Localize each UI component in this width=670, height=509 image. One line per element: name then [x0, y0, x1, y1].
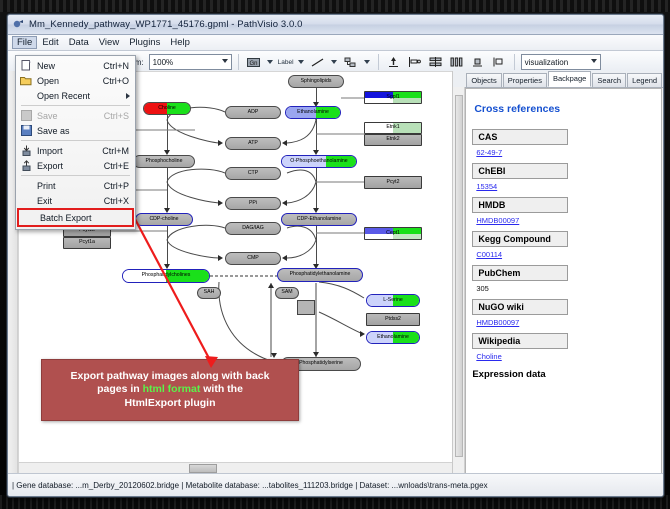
- gene-ptdss2[interactable]: Ptdss2: [366, 313, 420, 326]
- same-height-icon[interactable]: [469, 53, 487, 71]
- backpage-content: Cross references CAS 62-49-7 ChEBI 15354…: [465, 88, 662, 474]
- desktop-texture-top: [0, 0, 670, 12]
- node-ethanolamine-2[interactable]: Ethanolamine: [366, 331, 420, 344]
- menu-item-shortcut: Ctrl+O: [103, 76, 129, 86]
- backpage-entry-wikipedia: Wikipedia Choline: [472, 331, 661, 361]
- arrowhead: [218, 140, 223, 146]
- node-label: Phosphatidylethanolamine: [290, 272, 351, 277]
- callout-line1: Export pathway images along with back: [71, 370, 270, 382]
- menu-item-label: Save: [37, 111, 104, 121]
- new-file-icon: [19, 59, 33, 72]
- side-panel-scrollbar-thumb[interactable]: [455, 95, 463, 457]
- gene-label: Ptdss2: [385, 317, 401, 322]
- menu-item-save: Save Ctrl+S: [16, 108, 135, 123]
- menu-item-batch-export[interactable]: Batch Export: [17, 208, 134, 227]
- menu-item-open[interactable]: Open Ctrl+O: [16, 73, 135, 88]
- import-icon: [19, 144, 33, 157]
- menu-item-save-as[interactable]: Save as: [16, 123, 135, 138]
- label-dropdown-icon[interactable]: [298, 60, 304, 64]
- menu-item-export[interactable]: Export Ctrl+E: [16, 158, 135, 173]
- statusbar: | Gene database: ...m_Derby_20120602.bri…: [8, 473, 664, 496]
- save-icon: [19, 109, 33, 122]
- expression-data-heading: Expression data: [472, 369, 661, 380]
- file-menu-dropdown: New Ctrl+N Open Ctrl+O Open Recent Save …: [15, 55, 136, 230]
- entry-value[interactable]: 15354: [476, 182, 661, 191]
- arrowhead: [282, 140, 287, 146]
- window-titlebar: Mm_Kennedy_pathway_WP1771_45176.gpml - P…: [8, 15, 663, 35]
- menu-item-label: Print: [37, 181, 104, 191]
- pathvisio-icon: [12, 18, 25, 31]
- node-label: L-Serine: [383, 298, 403, 303]
- menu-item-label: Import: [37, 146, 102, 156]
- tab-search[interactable]: Search: [592, 73, 626, 87]
- menu-item-shortcut: Ctrl+S: [104, 111, 129, 121]
- menu-item-label: Exit: [37, 196, 104, 206]
- align-top-icon[interactable]: [385, 53, 403, 71]
- entry-label: CAS: [472, 129, 568, 145]
- svg-text:Gn: Gn: [250, 61, 258, 67]
- label-button[interactable]: Label: [278, 59, 294, 66]
- menu-item-shortcut: Ctrl+E: [104, 161, 129, 171]
- window-title: Mm_Kennedy_pathway_WP1771_45176.gpml - P…: [29, 19, 303, 30]
- entry-label: Kegg Compound: [472, 231, 568, 247]
- node-o-phosphoethanolamine[interactable]: O-Phosphoethanolamine: [281, 155, 357, 168]
- menu-plugins[interactable]: Plugins: [124, 36, 165, 49]
- pathvisio-window: Mm_Kennedy_pathway_WP1771_45176.gpml - P…: [7, 14, 664, 497]
- gene-label: Sgpl1: [386, 95, 399, 100]
- entry-label: HMDB: [472, 197, 568, 213]
- interaction-dropdown-icon[interactable]: [364, 60, 370, 64]
- node-cmp[interactable]: CMP: [225, 252, 281, 265]
- side-panel-tabs: Objects Properties Backpage Search Legen…: [453, 71, 663, 88]
- menu-view[interactable]: View: [94, 36, 124, 49]
- gene-box-icon[interactable]: Gn: [245, 53, 263, 71]
- menubar: File Edit Data View Plugins Help: [8, 35, 663, 51]
- backpage-entry-kegg: Kegg Compound C00114: [472, 229, 661, 259]
- node-label: PPi: [249, 201, 257, 206]
- menu-item-label: Save as: [37, 126, 129, 136]
- backpage-entry-pubchem: PubChem 305: [472, 263, 661, 293]
- node-label: Phosphatidylcholines: [142, 273, 191, 278]
- backpage-entry-hmdb: HMDB HMDB00097: [472, 195, 661, 225]
- backpage-entry-chebi: ChEBI 15354: [472, 161, 661, 191]
- node-choline-top[interactable]: Choline: [143, 102, 191, 115]
- backpage-entry-nugo: NuGO wiki HMDB00097: [472, 297, 661, 327]
- node-ppi[interactable]: PPi: [225, 197, 281, 210]
- align-left-icon[interactable]: [406, 53, 424, 71]
- node-label: CTP: [248, 171, 258, 176]
- menu-item-shortcut: Ctrl+M: [102, 146, 129, 156]
- horizontal-scrollbar-thumb[interactable]: [189, 464, 217, 473]
- gene-label: Etnk2: [386, 137, 399, 142]
- menu-separator: [21, 105, 130, 106]
- toolbar-separator-3: [514, 54, 515, 70]
- annotation-callout: Export pathway images along with back pa…: [41, 359, 299, 421]
- node-sah[interactable]: SAH: [197, 287, 221, 299]
- chevron-down-icon: [222, 59, 228, 63]
- arrowhead: [268, 283, 274, 288]
- gene-label: Etnk1: [386, 125, 399, 130]
- node-label: Phosphocholine: [146, 159, 183, 164]
- toolbar-separator-2: [378, 54, 379, 70]
- node-label: Choline: [158, 106, 176, 111]
- open-folder-icon: [19, 74, 33, 87]
- menu-item-import[interactable]: Import Ctrl+M: [16, 143, 135, 158]
- node-ctp[interactable]: CTP: [225, 167, 281, 180]
- menu-data[interactable]: Data: [64, 36, 94, 49]
- spacer-icon-4: [22, 211, 36, 224]
- callout-line3: HtmlExport plugin: [125, 397, 216, 409]
- node-label: Ethanolamine: [377, 335, 409, 340]
- arrowhead: [282, 200, 287, 206]
- menu-item-label: New: [37, 61, 103, 71]
- node-cdp-ethanolamine[interactable]: CDP-Ethanolamine: [281, 213, 357, 226]
- submenu-arrow-icon: [126, 93, 130, 99]
- line-icon[interactable]: [309, 53, 327, 71]
- gene-sgpl1[interactable]: Sgpl1: [364, 91, 422, 104]
- backpage-title: Cross references: [474, 103, 661, 115]
- export-icon: [19, 159, 33, 172]
- reaction-node: [297, 300, 315, 315]
- node-label: O-Phosphoethanolamine: [290, 159, 347, 164]
- tab-properties[interactable]: Properties: [503, 73, 547, 87]
- desktop-background: Mm_Kennedy_pathway_WP1771_45176.gpml - P…: [0, 0, 670, 509]
- entry-value[interactable]: 62-49-7: [476, 148, 661, 157]
- gene-pcyt1a[interactable]: Pcyt1a: [63, 237, 111, 249]
- node-sphingolipids[interactable]: Sphingolipids: [288, 75, 344, 88]
- entry-value[interactable]: C00114: [476, 250, 661, 259]
- zoom-value: 100%: [153, 58, 173, 67]
- gene-pcyt2[interactable]: Pcyt2: [364, 176, 422, 189]
- menu-item-shortcut: Ctrl+X: [104, 196, 129, 206]
- visualization-combobox[interactable]: visualization: [521, 54, 601, 70]
- menu-separator-2: [21, 140, 130, 141]
- spacer-icon-3: [19, 194, 33, 207]
- statusbar-text: | Gene database: ...m_Derby_20120602.bri…: [12, 481, 488, 490]
- node-dag-iag[interactable]: DAG/IAG: [225, 222, 281, 235]
- node-sam[interactable]: SAM: [275, 287, 299, 299]
- datanode-dropdown-icon[interactable]: [267, 60, 273, 64]
- menu-item-print[interactable]: Print Ctrl+P: [16, 178, 135, 193]
- toolbar-separator: [238, 54, 239, 70]
- gene-etnk1[interactable]: Etnk1: [364, 122, 422, 134]
- node-label: Phosphatidylserine: [299, 361, 343, 366]
- visualization-value: visualization: [525, 58, 569, 67]
- callout-text: Export pathway images along with back pa…: [65, 370, 276, 409]
- menu-item-new[interactable]: New Ctrl+N: [16, 58, 135, 73]
- node-label: ADP: [248, 110, 259, 115]
- node-ethanolamine-1[interactable]: Ethanolamine: [285, 106, 341, 119]
- menu-item-exit[interactable]: Exit Ctrl+X: [16, 193, 135, 208]
- entry-value[interactable]: Choline: [476, 352, 661, 361]
- node-cdp-choline[interactable]: CDP-choline: [135, 213, 193, 226]
- node-phosphocholine[interactable]: Phosphocholine: [133, 155, 195, 168]
- entry-value: 305: [476, 284, 661, 293]
- callout-line2b: with the: [200, 383, 243, 395]
- tab-backpage[interactable]: Backpage: [548, 71, 591, 87]
- entry-label: ChEBI: [472, 163, 568, 179]
- node-label: CDP-Ethanolamine: [297, 217, 341, 222]
- menu-item-shortcut: Ctrl+N: [103, 61, 129, 71]
- node-label: ATP: [248, 141, 258, 146]
- node-label: CDP-choline: [149, 217, 178, 222]
- menu-edit[interactable]: Edit: [37, 36, 63, 49]
- node-label: SAM: [281, 290, 292, 295]
- entry-value[interactable]: HMDB00097: [476, 216, 661, 225]
- node-l-serine[interactable]: L-Serine: [366, 294, 420, 307]
- tab-legend[interactable]: Legend: [627, 73, 662, 87]
- arrowhead: [271, 353, 277, 358]
- node-adp[interactable]: ADP: [225, 106, 281, 119]
- zoom-combobox[interactable]: 100%: [149, 54, 232, 70]
- stack-center-icon[interactable]: [427, 53, 445, 71]
- chevron-down-icon-2: [591, 59, 597, 63]
- node-phosphatidylcholines[interactable]: Phosphatidylcholines: [122, 269, 210, 283]
- menu-file[interactable]: File: [12, 36, 37, 49]
- save-as-icon: [19, 124, 33, 137]
- menu-item-label: Export: [37, 161, 104, 171]
- node-phosphatidylethanolamine[interactable]: Phosphatidylethanolamine: [277, 268, 363, 282]
- spacer-icon: [19, 89, 33, 102]
- arrowhead: [218, 255, 223, 261]
- node-label: Sphingolipids: [301, 79, 332, 84]
- callout-highlight: html format: [143, 383, 201, 395]
- menu-item-label: Batch Export: [40, 213, 132, 223]
- node-label: SAH: [204, 290, 215, 295]
- menu-item-shortcut: Ctrl+P: [104, 181, 129, 191]
- node-label: DAG/IAG: [242, 226, 264, 231]
- side-panel-scrollbar[interactable]: [453, 87, 465, 474]
- backpage-entry-cas: CAS 62-49-7: [472, 127, 661, 157]
- node-label: CMP: [247, 256, 259, 261]
- gene-cept1[interactable]: Cept1: [364, 227, 422, 240]
- side-panel: Objects Properties Backpage Search Legen…: [452, 71, 663, 474]
- menu-separator-3: [21, 175, 130, 176]
- menu-item-label: Open: [37, 76, 103, 86]
- distribute-icon[interactable]: [448, 53, 466, 71]
- entry-label: PubChem: [472, 265, 568, 281]
- gene-label: Cept1: [386, 231, 400, 236]
- gene-etnk2[interactable]: Etnk2: [364, 134, 422, 146]
- entry-label: NuGO wiki: [472, 299, 568, 315]
- entry-label: Wikipedia: [472, 333, 568, 349]
- menu-item-label: Open Recent: [37, 91, 135, 101]
- gene-label: Pcyt2: [387, 180, 400, 185]
- arrowhead: [282, 255, 287, 261]
- node-atp[interactable]: ATP: [225, 137, 281, 150]
- gene-label: Pcyt1a: [79, 240, 95, 245]
- same-width-icon[interactable]: [490, 53, 508, 71]
- spacer-icon-2: [19, 179, 33, 192]
- callout-line2a: pages in: [97, 383, 143, 395]
- menu-help[interactable]: Help: [165, 36, 195, 49]
- tab-objects[interactable]: Objects: [466, 73, 501, 87]
- line-dropdown-icon[interactable]: [331, 60, 337, 64]
- desktop-texture-bottom: [0, 495, 670, 509]
- menu-item-open-recent[interactable]: Open Recent: [16, 88, 135, 103]
- arrowhead: [218, 200, 223, 206]
- interaction-icon[interactable]: [342, 53, 360, 71]
- node-label: Ethanolamine: [297, 110, 329, 115]
- arrowhead: [360, 331, 365, 337]
- entry-value[interactable]: HMDB00097: [476, 318, 661, 327]
